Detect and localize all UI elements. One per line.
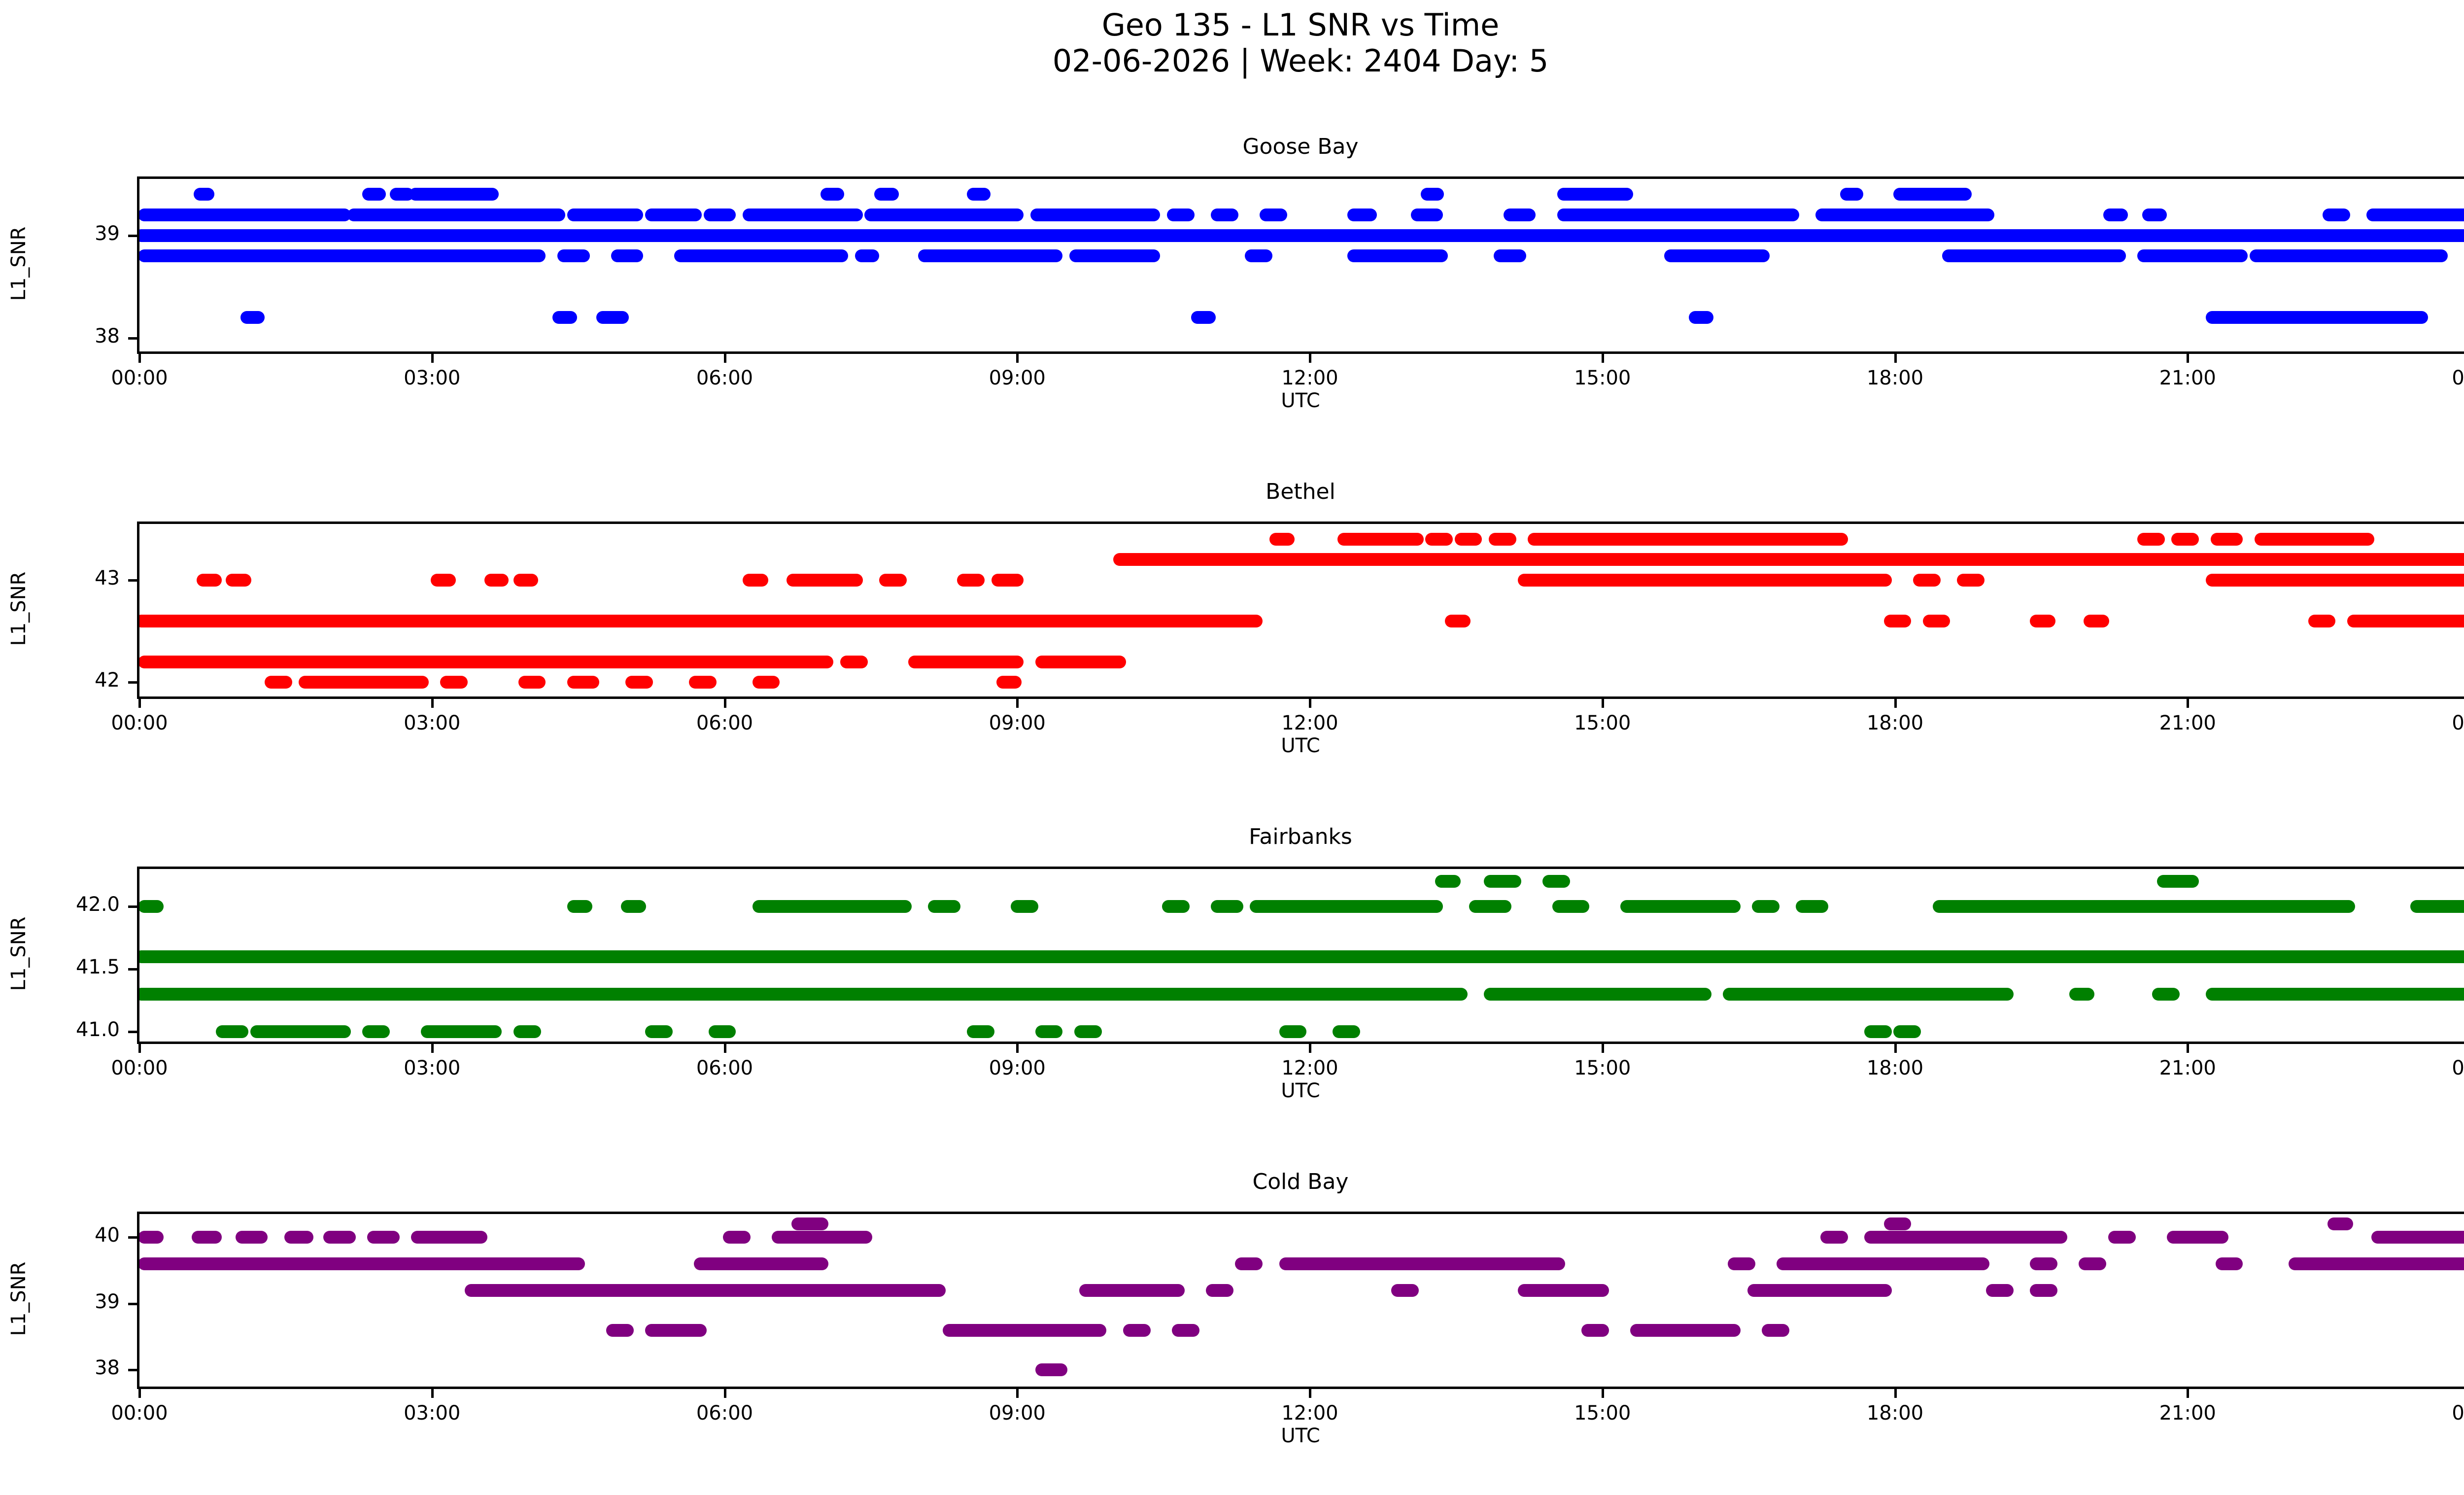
data-point-group <box>1518 574 1891 587</box>
subplot-title: Cold Bay <box>0 1169 2464 1194</box>
data-point-group <box>1557 209 1799 221</box>
x-tick-label: 00:00 <box>66 367 213 389</box>
data-point-group <box>137 988 1468 1001</box>
data-point-group <box>967 1025 994 1038</box>
data-point-group <box>2211 533 2243 546</box>
data-point-group <box>567 676 600 689</box>
data-point-group <box>2103 209 2128 221</box>
x-tick-mark <box>2187 1044 2189 1053</box>
data-point-group <box>1279 1025 1307 1038</box>
data-point-group <box>967 188 991 201</box>
x-tick-label: 21:00 <box>2114 1402 2261 1425</box>
x-tick-label: 00:00 <box>2406 712 2464 734</box>
data-point-group <box>1079 1284 1185 1297</box>
data-point-group <box>743 574 768 587</box>
x-tick-label: 03:00 <box>358 1057 506 1079</box>
data-point-group <box>787 574 863 587</box>
data-point-group <box>567 209 644 221</box>
data-point-group <box>1796 900 1828 913</box>
data-point-group <box>2084 615 2109 627</box>
data-point-group <box>1689 311 1713 324</box>
data-point-group <box>694 1257 828 1270</box>
data-point-group <box>1986 1284 2014 1297</box>
data-point-group <box>1957 574 1985 587</box>
data-point-group <box>2157 875 2199 888</box>
data-point-group <box>1581 1324 1609 1337</box>
data-point-group <box>2206 988 2464 1001</box>
data-point-group <box>552 311 577 324</box>
x-tick-mark <box>1016 354 1019 363</box>
data-point-group <box>138 1231 164 1244</box>
y-axis-label: L1_SNR <box>7 535 30 683</box>
data-point-group <box>2030 1257 2057 1270</box>
data-point-group <box>1864 1231 2067 1244</box>
x-tick-mark <box>1309 1389 1311 1398</box>
x-tick-label: 03:00 <box>358 712 506 734</box>
subplot-bethel: Bethel4243L1_SNR00:0003:0006:0009:0012:0… <box>0 0 2464 1495</box>
y-tick-label: 41.0 <box>14 1018 120 1041</box>
data-point-group <box>2171 533 2199 546</box>
data-point-group <box>1552 900 1589 913</box>
y-tick-label: 38 <box>14 1356 120 1379</box>
y-tick-mark <box>128 1236 137 1239</box>
data-point-group <box>137 615 1263 627</box>
y-tick-mark <box>128 1369 137 1371</box>
data-point-group <box>1211 900 1243 913</box>
data-point-group <box>821 188 844 201</box>
data-point-group <box>2030 615 2055 627</box>
data-point-group <box>1884 615 1912 627</box>
data-point-group <box>840 656 868 668</box>
data-point-group <box>1337 533 1423 546</box>
data-point-group <box>2366 209 2464 221</box>
x-tick-label: 09:00 <box>943 1402 1091 1425</box>
x-tick-label: 06:00 <box>651 1057 799 1079</box>
data-point-group <box>1435 875 1461 888</box>
y-tick-label: 42 <box>14 669 120 692</box>
x-tick-label: 18:00 <box>1821 1402 1969 1425</box>
subplot-cold-bay: Cold Bay383940L1_SNR00:0003:0006:0009:00… <box>0 0 2464 1495</box>
x-axis-label: UTC <box>0 734 2464 757</box>
data-point-group <box>1206 1284 1233 1297</box>
y-tick-mark <box>128 235 137 237</box>
data-point-group <box>1484 875 1521 888</box>
data-point-group <box>1864 1025 1892 1038</box>
data-point-group <box>1391 1284 1419 1297</box>
y-tick-label: 40 <box>14 1224 120 1247</box>
y-tick-label: 41.5 <box>14 956 120 978</box>
x-tick-label: 06:00 <box>651 367 799 389</box>
data-point-group <box>1489 533 1516 546</box>
data-point-group <box>1469 900 1511 913</box>
subplot-title: Goose Bay <box>0 134 2464 159</box>
data-point-group <box>299 676 429 689</box>
data-point-group <box>957 574 985 587</box>
x-tick-label: 00:00 <box>2406 1057 2464 1079</box>
data-point-group <box>1664 249 1770 262</box>
data-point-group <box>1723 988 2014 1001</box>
data-point-group <box>250 1025 351 1038</box>
x-tick-mark <box>1602 1044 1604 1053</box>
x-tick-mark <box>2187 354 2189 363</box>
x-tick-label: 21:00 <box>2114 712 2261 734</box>
data-point-group <box>596 311 629 324</box>
x-tick-label: 18:00 <box>1821 712 1969 734</box>
x-tick-mark <box>431 1044 434 1053</box>
x-tick-mark <box>1894 1389 1897 1398</box>
data-point-group <box>2108 1231 2136 1244</box>
data-point-group <box>2206 574 2464 587</box>
x-tick-mark <box>1016 1044 1019 1053</box>
data-point-group <box>2216 1257 2243 1270</box>
data-point-group <box>1557 188 1634 201</box>
data-point-group <box>265 676 292 689</box>
y-tick-mark <box>128 337 137 340</box>
data-point-group <box>192 1231 222 1244</box>
data-point-group <box>137 950 2464 963</box>
data-point-group <box>138 249 546 262</box>
x-tick-mark <box>431 354 434 363</box>
x-tick-mark <box>138 1389 141 1398</box>
y-tick-mark <box>128 1303 137 1305</box>
x-tick-label: 00:00 <box>66 1057 213 1079</box>
x-tick-label: 06:00 <box>651 1402 799 1425</box>
data-point-group <box>1728 1257 1755 1270</box>
x-tick-mark <box>1309 354 1311 363</box>
data-point-group <box>323 1231 356 1244</box>
y-axis-label: L1_SNR <box>7 880 30 1028</box>
data-point-group <box>1923 615 1951 627</box>
data-point-group <box>1035 1025 1063 1038</box>
data-point-group <box>1030 209 1161 221</box>
data-point-group <box>1913 574 1941 587</box>
data-point-group <box>557 249 590 262</box>
x-tick-label: 09:00 <box>943 1057 1091 1079</box>
data-point-group <box>943 1324 1107 1337</box>
data-point-group <box>918 249 1062 262</box>
x-axis-label: UTC <box>0 1079 2464 1102</box>
x-axis-label: UTC <box>0 1425 2464 1447</box>
data-point-group <box>518 676 546 689</box>
plot-area <box>137 522 2464 699</box>
data-point-group <box>606 1324 634 1337</box>
data-point-group <box>197 574 222 587</box>
figure-title: Geo 135 - L1 SNR vs Time 02-06-2026 | We… <box>0 7 2464 79</box>
data-point-group <box>1162 900 1190 913</box>
data-point-group <box>1893 1025 1921 1038</box>
subplot-fairbanks: Fairbanks41.041.542.0L1_SNR00:0003:0006:… <box>0 0 2464 1495</box>
x-tick-label: 15:00 <box>1529 712 1677 734</box>
data-point-group <box>723 1231 751 1244</box>
data-point-group <box>1421 188 1444 201</box>
x-tick-mark <box>1602 354 1604 363</box>
data-point-group <box>864 209 1024 221</box>
x-tick-mark <box>1894 1044 1897 1053</box>
subplot-title: Bethel <box>0 479 2464 504</box>
x-axis-label: UTC <box>0 389 2464 412</box>
y-tick-mark <box>128 1031 137 1033</box>
data-point-group <box>1933 900 2355 913</box>
data-point-group <box>772 1231 872 1244</box>
x-tick-mark <box>1016 699 1019 708</box>
data-point-group <box>855 249 880 262</box>
data-point-group <box>1494 249 1526 262</box>
plot-area <box>137 176 2464 354</box>
x-tick-label: 12:00 <box>1236 1402 1384 1425</box>
data-point-group <box>284 1231 314 1244</box>
data-point-group <box>226 574 251 587</box>
x-tick-mark <box>2187 1389 2189 1398</box>
data-point-group <box>1260 209 1287 221</box>
x-tick-label: 00:00 <box>2406 1402 2464 1425</box>
data-point-group <box>2371 1231 2464 1244</box>
data-point-group <box>689 676 717 689</box>
y-tick-label: 39 <box>14 222 120 245</box>
data-point-group <box>1840 188 1864 201</box>
data-point-group <box>194 188 214 201</box>
y-tick-label: 43 <box>14 567 120 590</box>
data-point-group <box>138 209 351 221</box>
data-point-group <box>1172 1324 1199 1337</box>
data-point-group <box>1777 1257 1989 1270</box>
data-point-group <box>645 1324 707 1337</box>
y-tick-label: 42.0 <box>14 893 120 916</box>
data-point-group <box>2250 249 2448 262</box>
x-tick-mark <box>1309 1044 1311 1053</box>
x-tick-label: 06:00 <box>651 712 799 734</box>
data-point-group <box>992 574 1024 587</box>
subplot-title: Fairbanks <box>0 824 2464 849</box>
data-point-group <box>1211 209 1238 221</box>
data-point-group <box>996 676 1022 689</box>
data-point-group <box>709 1025 736 1038</box>
y-tick-label: 39 <box>14 1290 120 1313</box>
data-point-group <box>791 1217 828 1230</box>
x-tick-label: 03:00 <box>358 1402 506 1425</box>
x-tick-mark <box>1894 699 1897 708</box>
x-tick-label: 15:00 <box>1529 1057 1677 1079</box>
plot-area <box>137 867 2464 1044</box>
x-tick-mark <box>431 699 434 708</box>
x-tick-label: 15:00 <box>1529 1402 1677 1425</box>
data-point-group <box>567 900 593 913</box>
data-point-group <box>611 249 644 262</box>
x-tick-label: 15:00 <box>1529 367 1677 389</box>
data-point-group <box>390 188 414 201</box>
data-point-group <box>1942 249 2125 262</box>
data-point-group <box>431 574 456 587</box>
data-point-group <box>2347 615 2464 627</box>
data-point-group <box>1191 311 1216 324</box>
data-point-group <box>1250 900 1443 913</box>
data-point-group <box>1235 1257 1263 1270</box>
data-point-group <box>704 209 736 221</box>
x-tick-label: 21:00 <box>2114 367 2261 389</box>
data-point-group <box>1035 656 1126 668</box>
subplot-goose-bay: Goose Bay3839L1_SNR00:0003:0006:0009:001… <box>0 0 2464 1495</box>
data-point-group <box>1069 249 1160 262</box>
data-point-group <box>1620 900 1741 913</box>
x-tick-label: 21:00 <box>2114 1057 2261 1079</box>
x-tick-mark <box>1894 354 1897 363</box>
data-point-group <box>1347 249 1448 262</box>
x-tick-mark <box>138 699 141 708</box>
x-tick-label: 12:00 <box>1236 367 1384 389</box>
data-point-group <box>1518 1284 1608 1297</box>
data-point-group <box>1752 900 1780 913</box>
data-point-group <box>1011 900 1038 913</box>
x-tick-label: 09:00 <box>943 712 1091 734</box>
data-point-group <box>1542 875 1570 888</box>
data-point-group <box>2079 1257 2106 1270</box>
data-point-group <box>2167 1231 2228 1244</box>
plot-area <box>137 1212 2464 1389</box>
y-tick-mark <box>128 579 137 582</box>
data-point-group <box>2323 209 2350 221</box>
x-tick-label: 12:00 <box>1236 712 1384 734</box>
data-point-group <box>513 1025 541 1038</box>
data-point-group <box>743 209 863 221</box>
x-tick-mark <box>2187 699 2189 708</box>
data-point-group <box>1333 1025 1360 1038</box>
data-point-group <box>1411 209 1443 221</box>
data-point-group <box>1504 209 1536 221</box>
y-axis-label: L1_SNR <box>7 1225 30 1373</box>
x-tick-mark <box>1309 699 1311 708</box>
y-tick-mark <box>128 905 137 908</box>
data-point-group <box>2410 900 2464 913</box>
data-point-group <box>879 574 907 587</box>
data-point-group <box>347 209 565 221</box>
figure-canvas: Geo 135 - L1 SNR vs Time 02-06-2026 | We… <box>0 0 2464 1495</box>
data-point-group <box>1762 1324 1789 1337</box>
data-point-group <box>440 676 468 689</box>
data-point-group <box>236 1231 268 1244</box>
data-point-group <box>1425 533 1453 546</box>
x-tick-label: 12:00 <box>1236 1057 1384 1079</box>
data-point-group <box>1445 615 1471 627</box>
data-point-group <box>1815 209 1994 221</box>
data-point-group <box>409 188 499 201</box>
data-point-group <box>138 1257 585 1270</box>
data-point-group <box>1884 1217 1912 1230</box>
data-point-group <box>2137 249 2248 262</box>
x-tick-label: 00:00 <box>66 712 213 734</box>
x-tick-mark <box>724 1044 726 1053</box>
data-point-group <box>2069 988 2095 1001</box>
x-tick-label: 00:00 <box>66 1402 213 1425</box>
data-point-group <box>2308 615 2336 627</box>
data-point-group <box>1455 533 1482 546</box>
data-point-group <box>465 1284 946 1297</box>
data-point-group <box>753 676 780 689</box>
data-point-group <box>1074 1025 1102 1038</box>
data-point-group <box>421 1025 502 1038</box>
x-tick-label: 18:00 <box>1821 1057 1969 1079</box>
data-point-group <box>645 209 702 221</box>
data-point-group <box>1528 533 1848 546</box>
data-point-group <box>1630 1324 1741 1337</box>
data-point-group <box>362 188 386 201</box>
data-point-group <box>2206 311 2429 324</box>
data-point-group <box>2142 209 2167 221</box>
data-point-group <box>240 311 265 324</box>
data-point-group <box>753 900 912 913</box>
data-point-group <box>2030 1284 2057 1297</box>
data-point-group <box>1820 1231 1848 1244</box>
y-tick-mark <box>128 968 137 971</box>
x-tick-mark <box>138 1044 141 1053</box>
data-point-group <box>362 1025 390 1038</box>
x-tick-mark <box>724 354 726 363</box>
x-tick-label: 00:00 <box>2406 367 2464 389</box>
data-point-group <box>484 574 509 587</box>
data-point-group <box>1747 1284 1892 1297</box>
data-point-group <box>1167 209 1195 221</box>
data-point-group <box>138 900 164 913</box>
data-point-group <box>625 676 653 689</box>
x-tick-label: 18:00 <box>1821 367 1969 389</box>
data-point-group <box>2289 1257 2464 1270</box>
y-axis-label: L1_SNR <box>7 190 30 338</box>
x-tick-mark <box>1602 699 1604 708</box>
x-tick-label: 03:00 <box>358 367 506 389</box>
data-point-group <box>928 900 960 913</box>
data-point-group <box>874 188 899 201</box>
data-point-group <box>1347 209 1377 221</box>
data-point-group <box>513 574 538 587</box>
data-point-group <box>1893 188 1972 201</box>
data-point-group <box>2255 533 2375 546</box>
x-tick-label: 09:00 <box>943 367 1091 389</box>
data-point-group <box>2137 533 2165 546</box>
x-tick-mark <box>1602 1389 1604 1398</box>
data-point-group <box>1269 533 1295 546</box>
data-point-group <box>621 900 647 913</box>
data-point-group <box>1484 988 1711 1001</box>
y-tick-label: 38 <box>14 325 120 348</box>
data-point-group <box>137 229 2464 242</box>
data-point-group <box>2152 988 2180 1001</box>
x-tick-mark <box>138 354 141 363</box>
data-point-group <box>1035 1363 1068 1376</box>
data-point-group <box>908 656 1024 668</box>
x-tick-mark <box>431 1389 434 1398</box>
data-point-group <box>2327 1217 2353 1230</box>
data-point-group <box>138 656 833 668</box>
data-point-group <box>411 1231 487 1244</box>
data-point-group <box>674 249 848 262</box>
data-point-group <box>645 1025 673 1038</box>
data-point-group <box>1279 1257 1565 1270</box>
data-point-group <box>1123 1324 1151 1337</box>
x-tick-mark <box>1016 1389 1019 1398</box>
data-point-group <box>216 1025 248 1038</box>
data-point-group <box>1245 249 1272 262</box>
x-tick-mark <box>724 1389 726 1398</box>
data-point-group <box>1113 553 2464 566</box>
x-tick-mark <box>724 699 726 708</box>
y-tick-mark <box>128 681 137 684</box>
data-point-group <box>367 1231 400 1244</box>
